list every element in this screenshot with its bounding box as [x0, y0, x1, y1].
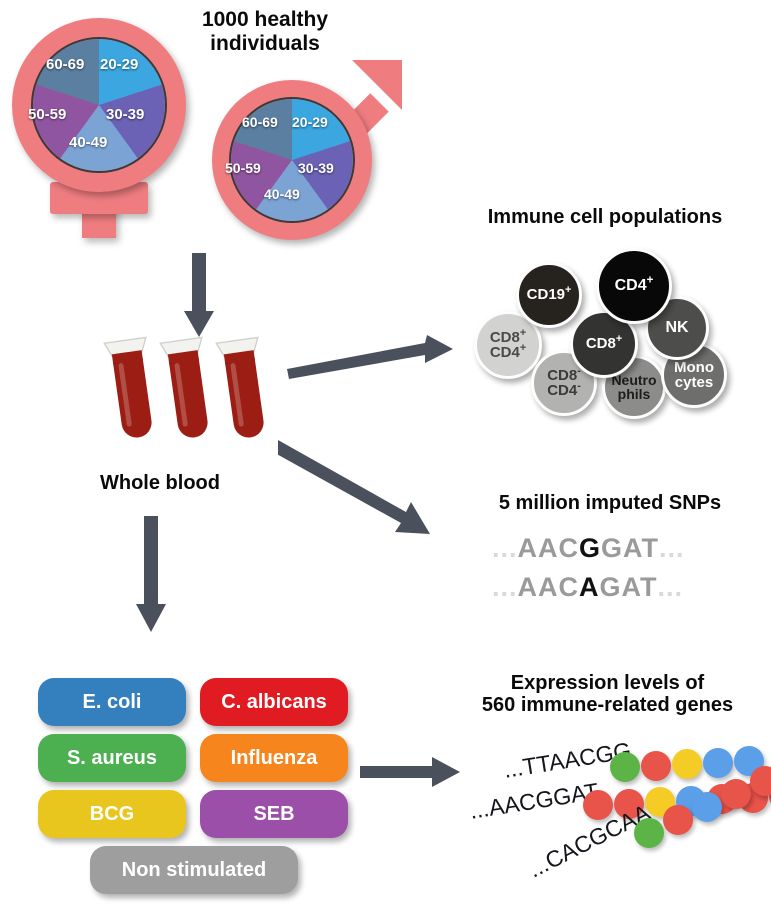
stimulation-pill-non-stimulated[interactable]: Non stimulated — [90, 846, 298, 894]
immune-cell-monocytes: Monocytes — [661, 342, 727, 408]
whole-blood-label: Whole blood — [70, 472, 250, 494]
female-pie-label-30-39: 30-39 — [106, 106, 144, 123]
figure-canvas: 1000 healthy individuals 20-29 30-39 40-… — [0, 0, 771, 922]
expression-bead-yellow — [645, 787, 675, 817]
immune-cell-label: Neutrophils — [611, 373, 656, 402]
expression-title-line2: 560 immune-related genes — [450, 694, 765, 716]
stimulation-pill-label: E. coli — [83, 691, 142, 714]
snp-row2-suffix: ... — [658, 572, 684, 603]
female-pie-label-40-49: 40-49 — [69, 134, 107, 151]
blood-tubes-svg — [95, 330, 280, 445]
expression-bead-red — [663, 805, 693, 835]
immune-cell-label: CD8+CD4+ — [490, 330, 526, 361]
immune-cell-label: CD19+ — [527, 287, 572, 302]
stimulation-pill-seb[interactable]: SEB — [200, 790, 348, 838]
immune-cell-label: CD8+ — [586, 336, 622, 351]
expression-bead-blue — [692, 792, 722, 822]
expression-bead-red — [707, 784, 737, 814]
expression-bead-red — [614, 789, 644, 819]
stimulation-pill-label: Non stimulated — [122, 859, 266, 882]
stimulation-pill-label: SEB — [253, 803, 294, 826]
expression-bead-red — [721, 779, 751, 809]
female-pie-label-20-29: 20-29 — [100, 56, 138, 73]
expression-title: Expression levels of 560 immune-related … — [450, 672, 765, 717]
female-pie-label-50-59: 50-59 — [28, 106, 66, 123]
snp-row2-lead: AAC — [518, 572, 580, 603]
snp-row1-suffix: ... — [659, 533, 685, 564]
expression-bead-blue — [734, 746, 764, 776]
snp-row1-tail: GAT — [601, 533, 659, 564]
expression-bead-green — [610, 752, 640, 782]
expression-strand-sequence-1: ...TTAACGG — [502, 737, 633, 784]
male-pie-label-60-69: 60-69 — [242, 114, 278, 130]
stimulation-pill-bcg[interactable]: BCG — [38, 790, 186, 838]
snp-row2-prefix: ... — [492, 572, 518, 603]
immune-cell-cd8-cd4: CD8+CD4+ — [474, 311, 542, 379]
stimulation-pill-label: C. albicans — [221, 691, 327, 714]
stimulation-pill-e-coli[interactable]: E. coli — [38, 678, 186, 726]
expression-bead-green — [634, 818, 664, 848]
stimulation-pill-label: S. aureus — [67, 747, 157, 770]
arrow-blood-to-snps — [278, 440, 448, 550]
immune-cell-label: Monocytes — [674, 360, 714, 391]
arrow-blood-to-immune-cells — [285, 335, 455, 385]
expression-bead-red — [738, 783, 768, 813]
expression-bead-yellow — [672, 749, 702, 779]
arrow-stimulation-to-expression — [360, 755, 470, 795]
stimulation-pill-label: BCG — [90, 803, 134, 826]
expression-strand-sequence-3: ...CACGCAA — [524, 799, 655, 883]
immune-cell-cd8-cd4: CD8-CD4- — [531, 350, 597, 416]
snp-row1-variant: G — [579, 533, 601, 564]
immune-cell-neutrophils: Neutrophils — [602, 355, 666, 419]
snp-sequence-row-2: ...AACAGAT... — [492, 572, 683, 603]
expression-bead-red — [583, 790, 613, 820]
stimulation-pill-influenza[interactable]: Influenza — [200, 734, 348, 782]
immune-cell-cd4: CD4+ — [596, 248, 672, 324]
expression-title-line1: Expression levels of — [450, 672, 765, 694]
immune-cell-cd19: CD19+ — [516, 262, 582, 328]
expression-strand-sequence-2: ...AACGGAT — [468, 778, 601, 825]
snp-row2-tail: GAT — [600, 572, 658, 603]
immune-cell-label: CD8-CD4- — [547, 368, 581, 399]
expression-bead-blue — [703, 748, 733, 778]
female-gender-symbol: 20-29 30-39 40-49 50-59 60-69 — [6, 14, 192, 240]
expression-bead-red — [750, 766, 771, 796]
immune-cell-label: CD4+ — [615, 278, 654, 294]
arrow-down-blood-to-stimulation — [122, 516, 182, 636]
male-pie-label-20-29: 20-29 — [292, 114, 328, 130]
male-pie-label-40-49: 40-49 — [264, 186, 300, 202]
male-pie-label-30-39: 30-39 — [298, 160, 334, 176]
male-gender-symbol: 20-29 30-39 40-49 50-59 60-69 — [206, 58, 406, 248]
immune-cell-label: NK — [665, 320, 688, 336]
female-pie-label-60-69: 60-69 — [46, 56, 84, 73]
snp-sequence-row-1: ...AACGGAT... — [492, 533, 685, 564]
snp-title: 5 million imputed SNPs — [460, 492, 760, 514]
immune-cell-nk: NK — [645, 296, 709, 360]
stimulation-pill-label: Influenza — [231, 747, 318, 770]
snp-row2-variant: A — [579, 572, 600, 603]
snp-row1-prefix: ... — [492, 533, 518, 564]
immune-cell-cd8: CD8+ — [570, 310, 638, 378]
stimulation-pill-c-albicans[interactable]: C. albicans — [200, 678, 348, 726]
expression-bead-blue — [676, 786, 706, 816]
expression-bead-red — [641, 751, 671, 781]
stimulation-pill-s-aureus[interactable]: S. aureus — [38, 734, 186, 782]
immune-cell-populations-title: Immune cell populations — [440, 206, 770, 228]
whole-blood-tubes — [95, 330, 280, 445]
male-pie-label-50-59: 50-59 — [225, 160, 261, 176]
snp-row1-lead: AAC — [518, 533, 580, 564]
